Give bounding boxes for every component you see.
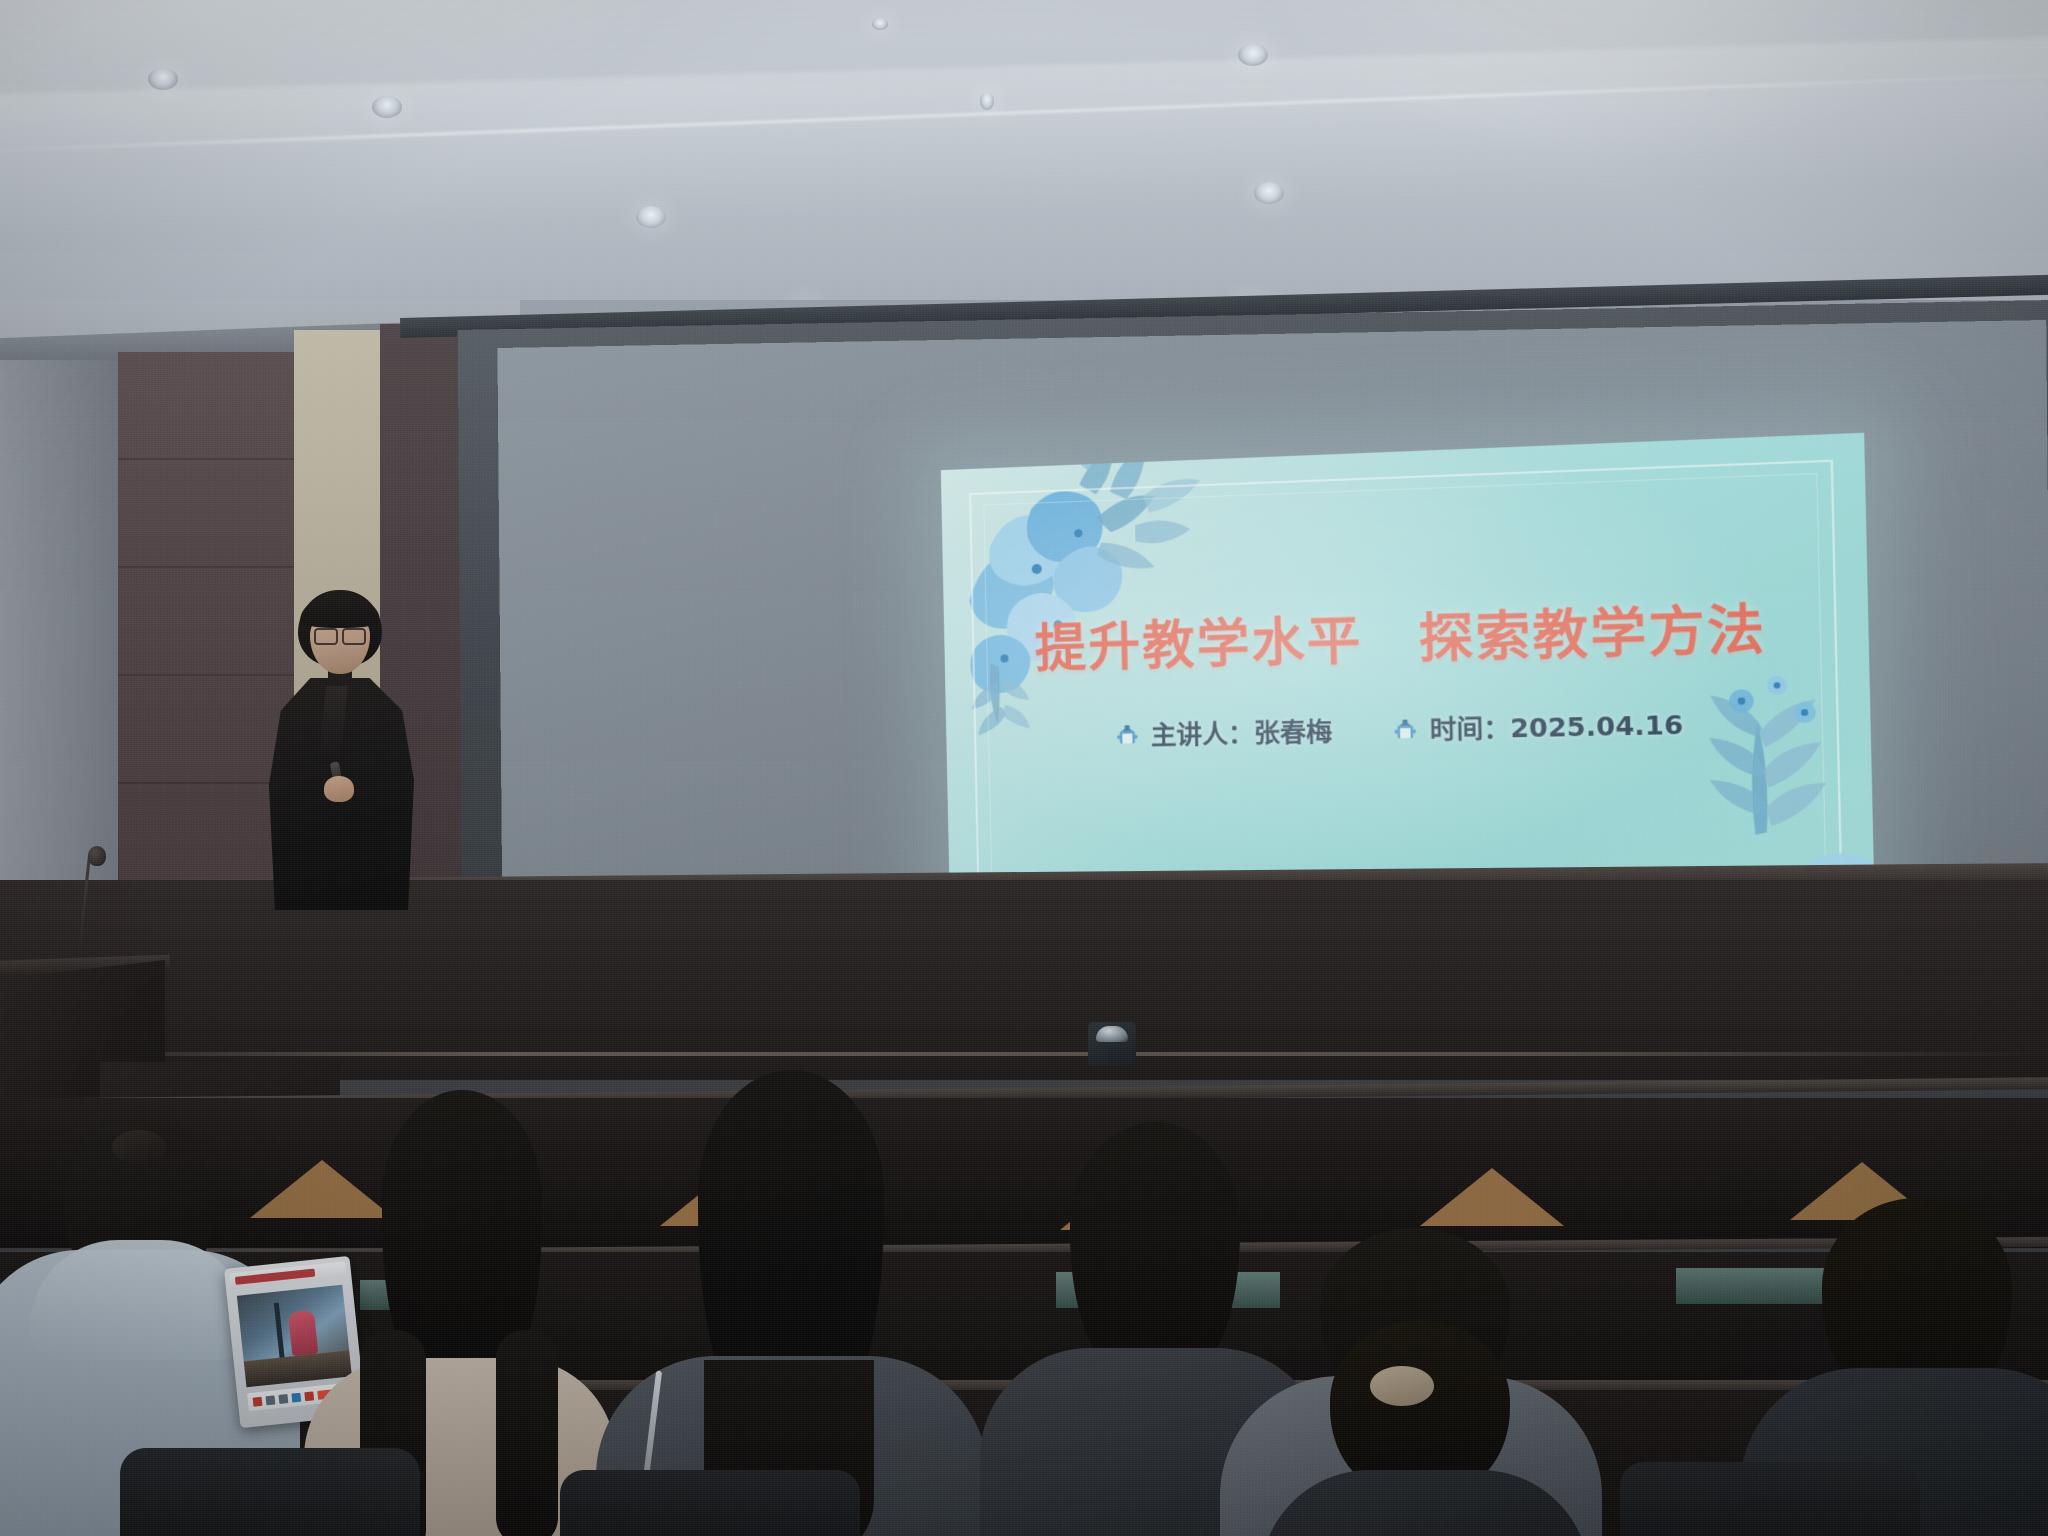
audience-member-2-hair-front-right: [496, 1330, 558, 1536]
tablet-control-prev-icon[interactable]: [265, 1395, 275, 1405]
downlight-5: [1238, 44, 1268, 66]
audience-member-1-hair-tie: [112, 1130, 166, 1164]
presenter-hand: [324, 776, 354, 802]
downlight-4: [872, 18, 888, 30]
podium-speaker-icon: [1391, 715, 1419, 742]
chair-back-center: [560, 1470, 860, 1536]
downlight-9: [980, 92, 994, 110]
slide-date-item: 时间：2025.04.16: [1391, 704, 1684, 747]
stage-front-wall: [0, 880, 2048, 1080]
downlight-2: [372, 96, 402, 118]
slide-presenter-item: 主讲人：张春梅: [1114, 712, 1333, 753]
audience-member-7-torso: [1260, 1470, 1590, 1536]
gooseneck-microphone-head: [88, 846, 106, 866]
desk-wood-inlay-4: [1420, 1168, 1564, 1226]
audience-member-7: [1270, 1320, 1570, 1536]
downlight-6: [1254, 182, 1284, 204]
audience-member-4-hair: [1070, 1122, 1240, 1372]
tracking-camera-lens: [1096, 1026, 1128, 1042]
presenter: [244, 590, 434, 910]
slide-date-label: 时间：2025.04.16: [1429, 704, 1683, 747]
downlight-3: [636, 206, 666, 228]
downlight-1: [148, 68, 178, 90]
audience-member-7-hair: [1330, 1320, 1510, 1490]
left-wall-column: [0, 360, 120, 880]
tablet-control-play-icon[interactable]: [253, 1396, 263, 1406]
podium-speaker-icon: [1114, 721, 1141, 748]
lecture-hall-scene: 提升教学水平 探索教学方法 主讲人：张春梅: [0, 0, 2048, 1536]
tablet-control-fullscreen-icon[interactable]: [304, 1391, 314, 1401]
tablet-video-subject: [288, 1310, 318, 1356]
chair-back-left: [120, 1448, 420, 1536]
audience-member-3: [630, 1070, 950, 1536]
tablet-control-next-icon[interactable]: [278, 1394, 288, 1404]
slide-presenter-label: 主讲人：张春梅: [1150, 712, 1332, 752]
presenter-glasses: [314, 628, 366, 641]
chair-back-right: [1620, 1462, 1920, 1536]
stage-front-edge-highlight: [0, 1052, 2048, 1056]
tablet-control-volume-icon[interactable]: [291, 1392, 301, 1402]
audience-member-7-hair-tie: [1370, 1366, 1434, 1406]
